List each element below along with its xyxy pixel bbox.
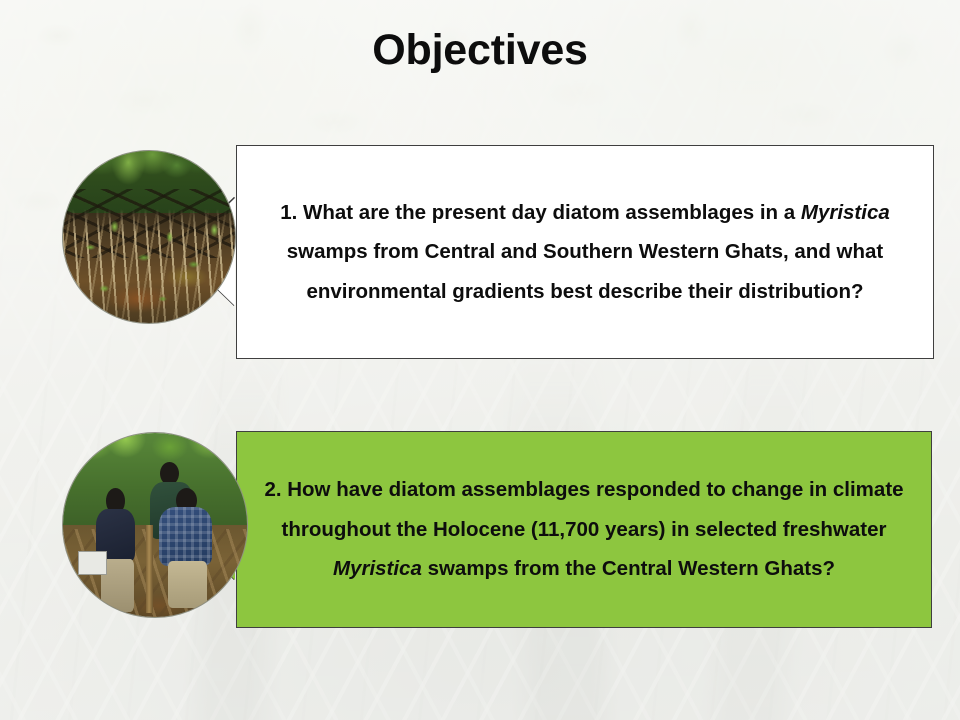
objective-2-text: 2. How have diatom assemblages responded… <box>237 470 931 588</box>
swamp-seedlings <box>63 151 235 323</box>
researcher-right-torso <box>159 507 212 566</box>
field-equipment-case <box>78 551 107 575</box>
myristica-swamp-photo <box>62 150 236 324</box>
objective-2-callout: 2. How have diatom assemblages responded… <box>236 431 932 628</box>
swamp-scene <box>63 151 235 323</box>
researcher-right <box>155 488 225 606</box>
fieldwork-coring-photo <box>62 432 248 618</box>
researcher-right-legs <box>168 561 207 608</box>
slide-title: Objectives <box>0 26 960 74</box>
objective-1-callout: 1. What are the present day diatom assem… <box>236 145 934 359</box>
presentation-slide: Objectives 1. What are the present day d… <box>0 0 960 720</box>
objective-1-text: 1. What are the present day diatom assem… <box>237 193 933 311</box>
researcher-left <box>89 488 152 609</box>
fieldwork-scene <box>63 433 247 617</box>
objective-1-callout-body: 1. What are the present day diatom assem… <box>236 145 934 359</box>
objective-2-callout-body: 2. How have diatom assemblages responded… <box>236 431 932 628</box>
